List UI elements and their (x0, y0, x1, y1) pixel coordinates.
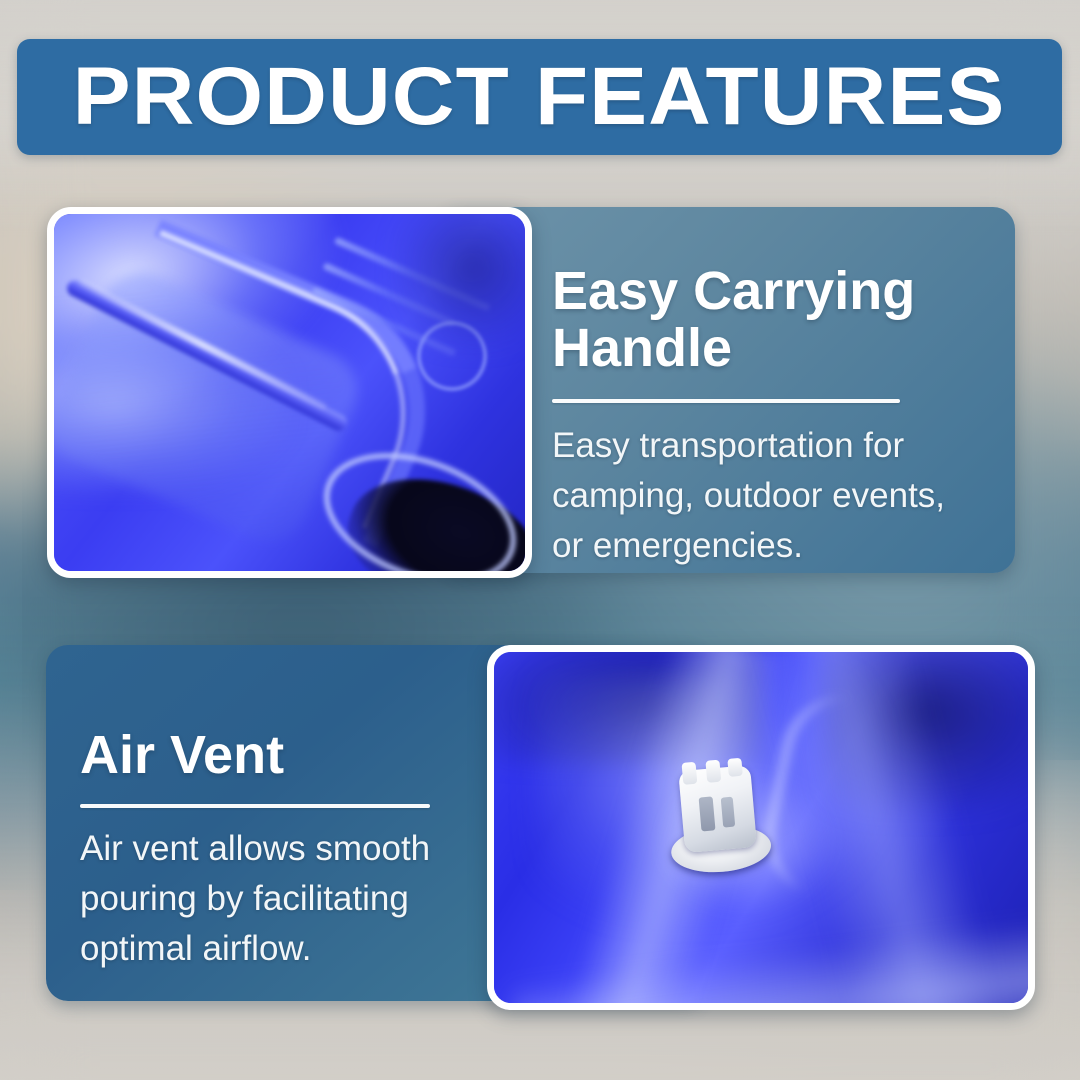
page-title: PRODUCT FEATURES (73, 56, 1006, 138)
feature-body-2: Air vent allows smooth pouring by facili… (80, 824, 470, 973)
feature-card-easy-carrying-handle: Easy Carrying Handle Easy transportation… (440, 207, 1015, 573)
feature-heading-2: Air Vent (80, 727, 480, 784)
feature-body-1: Easy transportation for camping, outdoor… (552, 421, 982, 570)
header-banner: PRODUCT FEATURES (17, 39, 1062, 155)
feature-divider-1 (552, 399, 900, 403)
feature-card-air-vent: Air Vent Air vent allows smooth pouring … (46, 645, 706, 1001)
feature-heading-1: Easy Carrying Handle (552, 263, 982, 377)
feature-divider-2 (80, 804, 430, 808)
